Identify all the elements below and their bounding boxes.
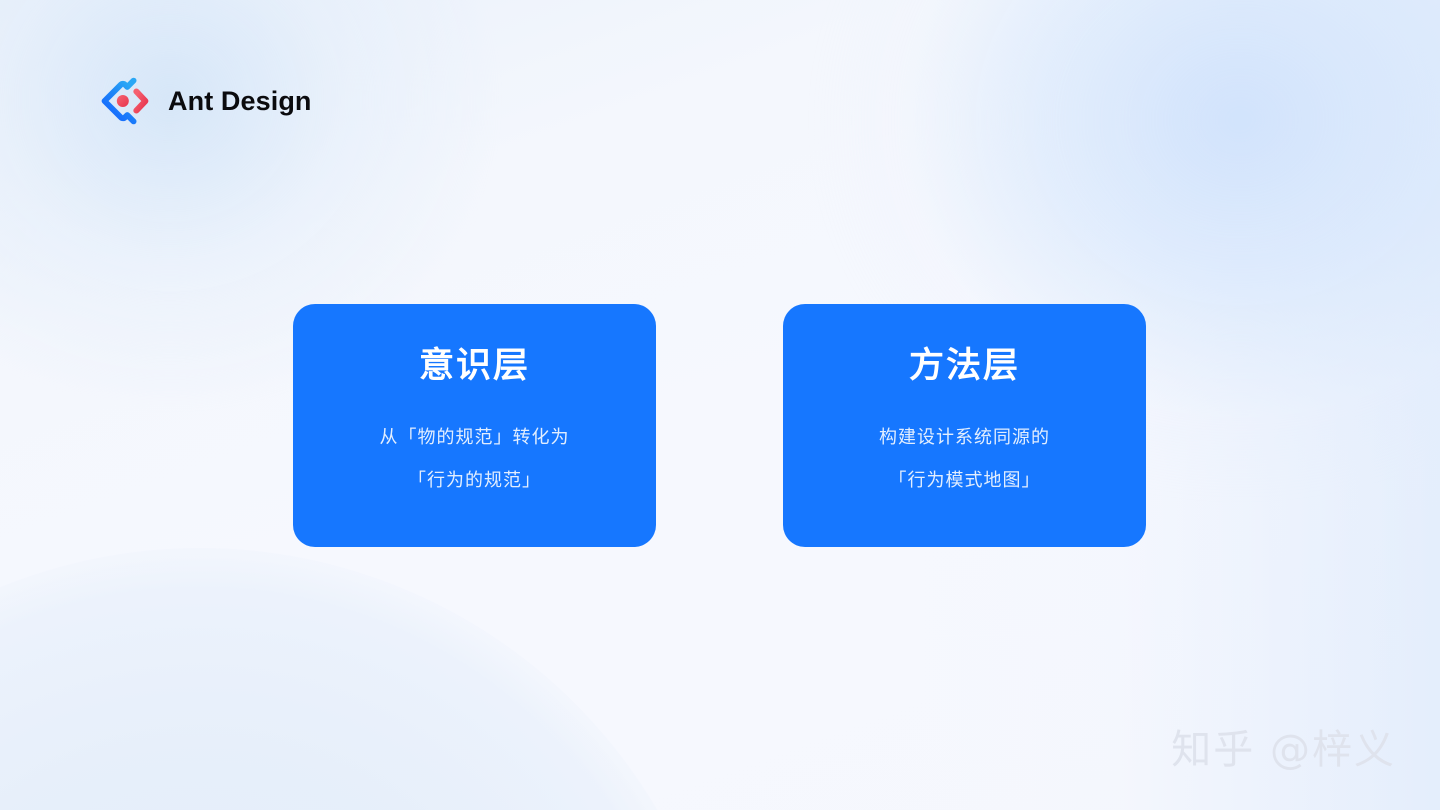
card-description-line: 「行为模式地图」	[879, 459, 1050, 502]
layer-card-group: 意识层 从「物的规范」转化为 「行为的规范」 方法层 构建设计系统同源的 「行为…	[293, 304, 1146, 547]
card-description-line: 「行为的规范」	[380, 459, 570, 502]
ant-design-logo-icon	[96, 72, 154, 130]
slide-canvas: Ant Design 意识层 从「物的规范」转化为 「行为的规范」 方法层 构建…	[0, 0, 1440, 810]
card-awareness-layer[interactable]: 意识层 从「物的规范」转化为 「行为的规范」	[293, 304, 656, 547]
brand-name: Ant Design	[168, 88, 312, 115]
card-description: 从「物的规范」转化为 「行为的规范」	[380, 416, 570, 502]
brand-logo: Ant Design	[96, 72, 312, 130]
card-description-line: 构建设计系统同源的	[879, 416, 1050, 459]
card-description: 构建设计系统同源的 「行为模式地图」	[879, 416, 1050, 502]
watermark: 知乎 @梓义	[1171, 730, 1396, 770]
card-title: 方法层	[909, 349, 1020, 384]
card-method-layer[interactable]: 方法层 构建设计系统同源的 「行为模式地图」	[783, 304, 1146, 547]
card-title: 意识层	[419, 349, 530, 384]
card-description-line: 从「物的规范」转化为	[380, 416, 570, 459]
